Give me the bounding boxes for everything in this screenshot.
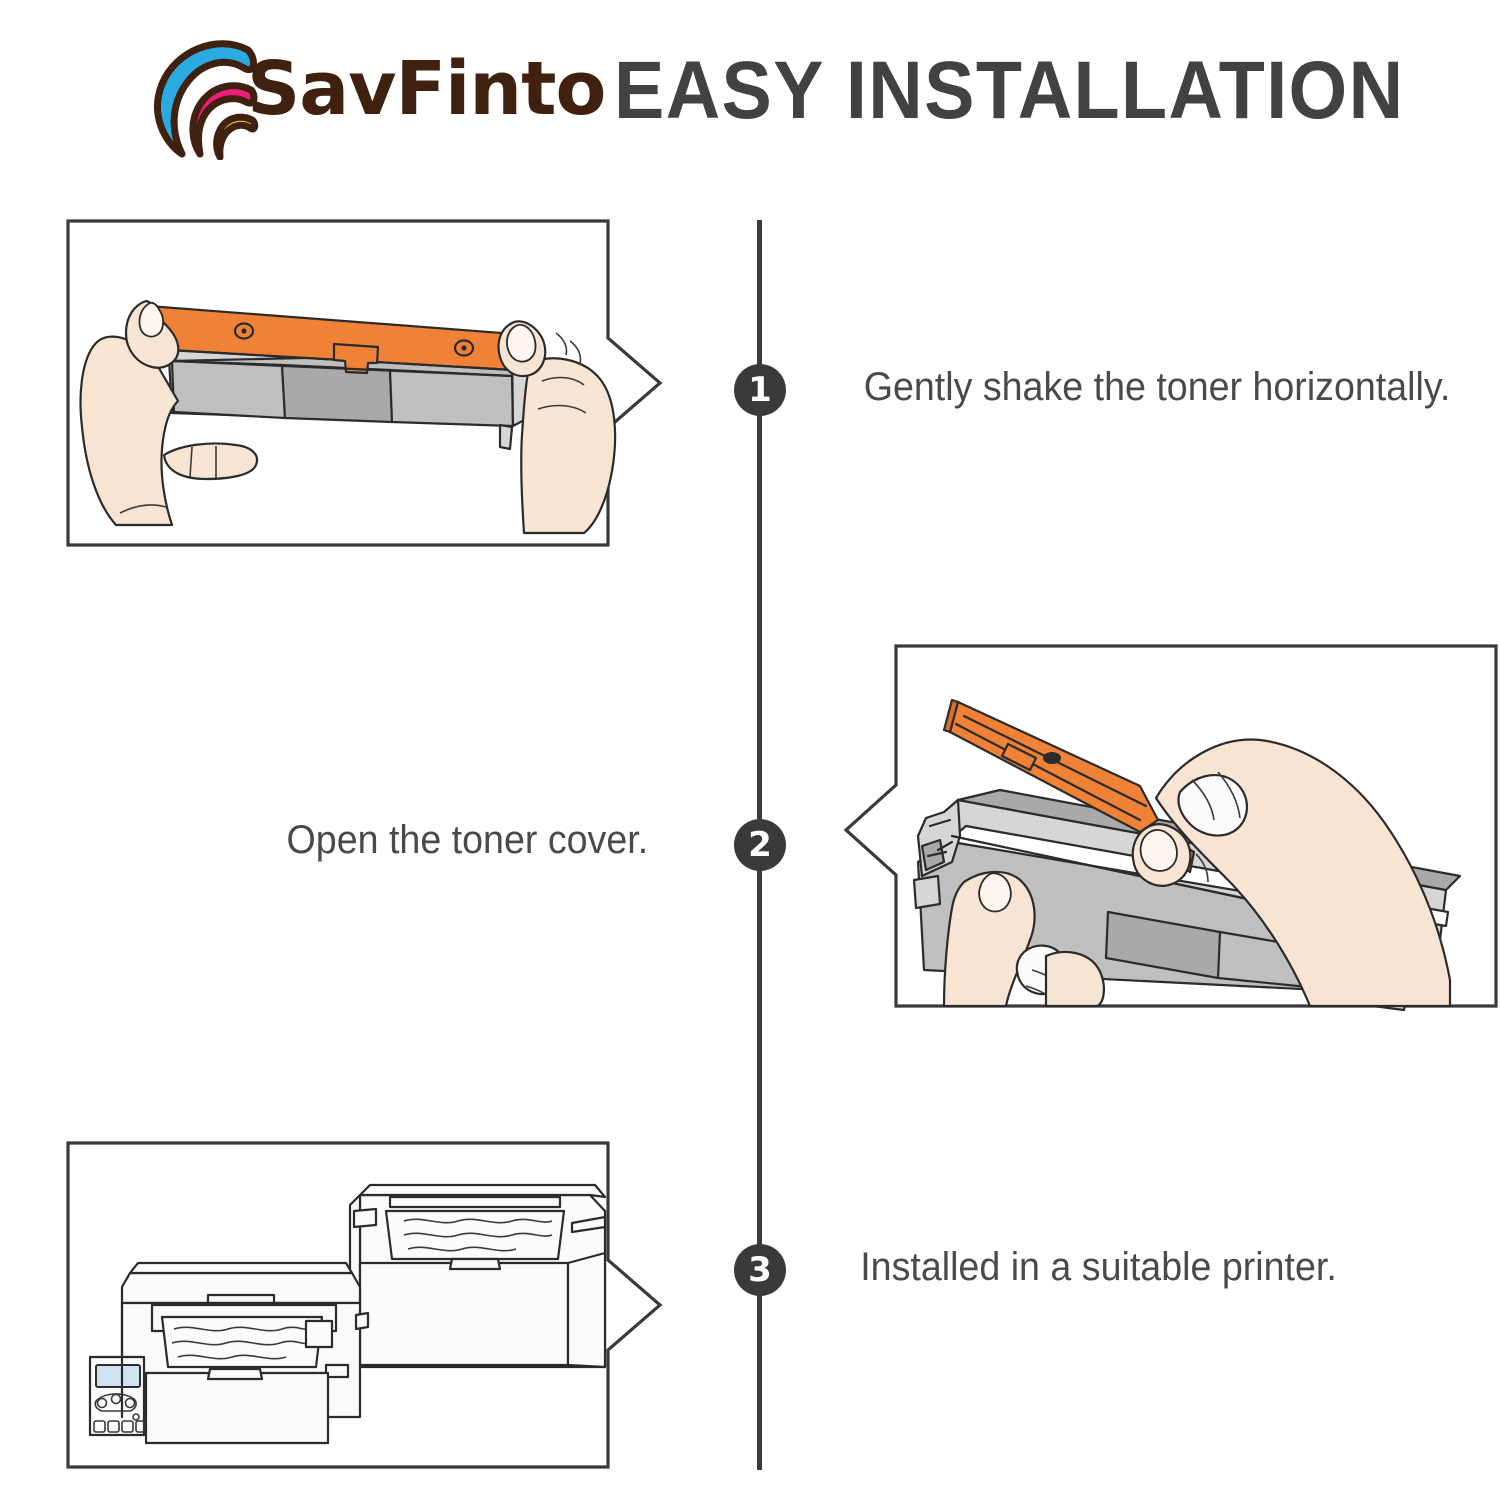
step-1-illustration-panel xyxy=(60,213,670,553)
step-marker-2: 2 xyxy=(734,819,786,871)
header: SavFinto EASY INSTALLATION xyxy=(0,0,1500,180)
step-text-3: Installed in a suitable printer. xyxy=(860,1245,1337,1290)
step-text-1: Gently shake the toner horizontally. xyxy=(864,365,1451,410)
step-2-illustration-panel xyxy=(840,640,1500,1012)
brand-name: SavFinto xyxy=(247,52,605,126)
step-3-illustration-panel xyxy=(60,1135,670,1475)
step-marker-3: 3 xyxy=(734,1244,786,1296)
mfp-printer-front xyxy=(90,1263,368,1443)
step-marker-1: 1 xyxy=(734,364,786,416)
laser-printer-back xyxy=(350,1185,605,1375)
step-text-2: Open the toner cover. xyxy=(287,818,649,863)
page-title: EASY INSTALLATION xyxy=(614,48,1404,134)
